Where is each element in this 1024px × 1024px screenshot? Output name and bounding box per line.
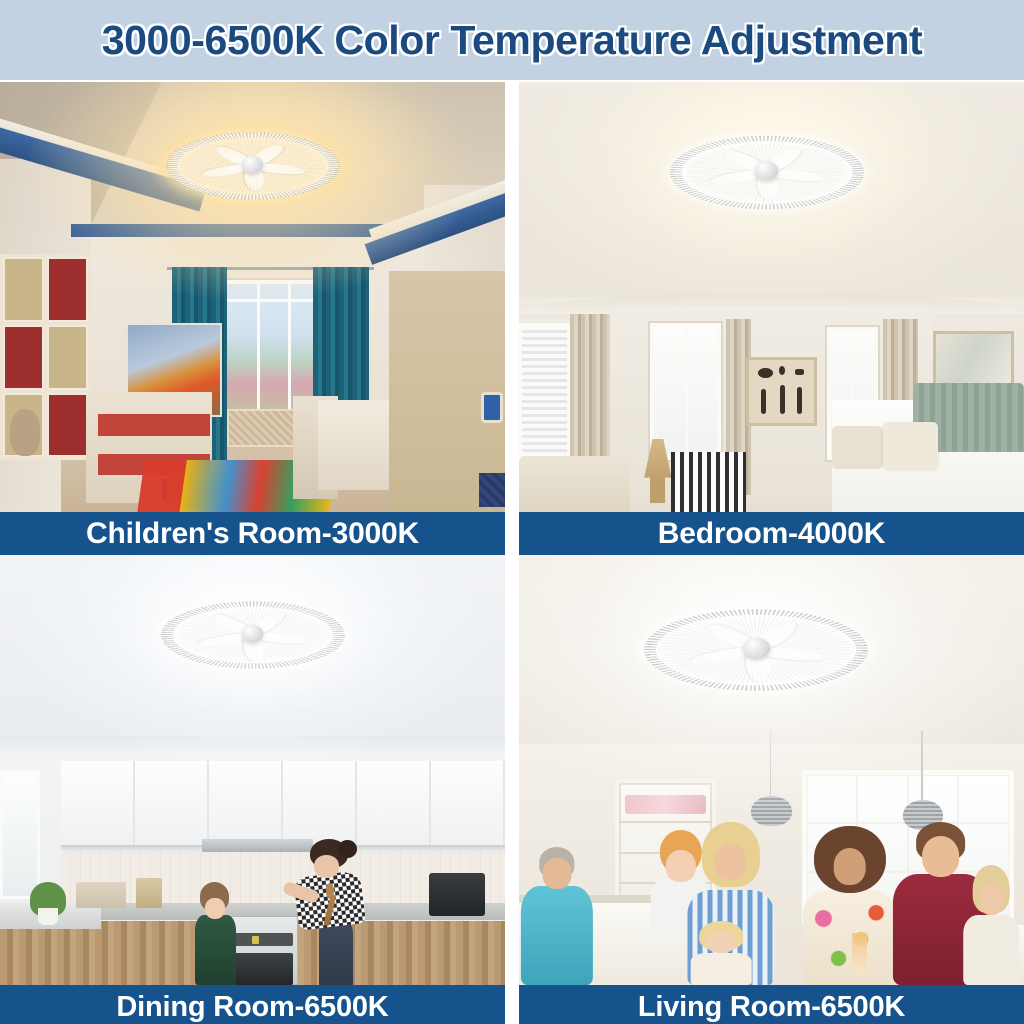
header-banner: 3000-6500K Color Temperature Adjustment bbox=[0, 0, 1024, 80]
panel-children-room[interactable] bbox=[0, 82, 505, 512]
person-shirt bbox=[521, 886, 593, 985]
panel-grid: Children's Room-3000K bbox=[0, 82, 1024, 1024]
person-face bbox=[980, 884, 1003, 915]
person-face bbox=[715, 844, 747, 880]
scene-bedroom bbox=[519, 82, 1024, 512]
panel-dining-room[interactable] bbox=[0, 555, 505, 985]
bed-headboard bbox=[481, 392, 503, 423]
pendant-cord bbox=[770, 731, 772, 800]
sofa bbox=[519, 456, 630, 512]
scene-living-room bbox=[519, 555, 1024, 985]
shelf-cube bbox=[3, 257, 44, 322]
shelf-cube bbox=[47, 257, 88, 322]
child-face bbox=[205, 898, 225, 919]
fan-hub bbox=[743, 638, 770, 659]
window bbox=[222, 280, 323, 413]
ceiling-fan-light[interactable] bbox=[167, 95, 339, 237]
shelf-cube bbox=[47, 393, 88, 458]
shelf-cube bbox=[47, 325, 88, 390]
dresser-drawer bbox=[98, 414, 209, 436]
upper-cabinets bbox=[61, 761, 505, 847]
ceiling-fan-light[interactable] bbox=[645, 564, 867, 736]
page-title: 3000-6500K Color Temperature Adjustment bbox=[102, 17, 923, 64]
panel-label-text: Children's Room-3000K bbox=[86, 517, 419, 551]
panel-label-text: Living Room-6500K bbox=[638, 991, 905, 1024]
panel-label-text: Dining Room-6500K bbox=[116, 991, 388, 1024]
cabinet-door bbox=[209, 761, 283, 847]
child-figure bbox=[192, 882, 243, 985]
range-display bbox=[252, 936, 259, 944]
lamp-base bbox=[650, 473, 665, 503]
bunk-bed bbox=[389, 271, 505, 512]
person-shirt bbox=[963, 915, 1019, 985]
panel-label-bedroom: Bedroom-4000K bbox=[519, 512, 1024, 555]
alcove-dishware bbox=[625, 795, 707, 814]
fan-hub bbox=[242, 156, 263, 173]
person-shirt bbox=[691, 953, 752, 985]
person-face bbox=[922, 836, 960, 877]
window-pane bbox=[857, 775, 908, 823]
cabinet-door bbox=[61, 761, 135, 847]
teddy-bear bbox=[10, 409, 40, 456]
panel-living-room[interactable] bbox=[519, 555, 1024, 985]
cabinet-door bbox=[357, 761, 431, 847]
child-dress bbox=[195, 915, 236, 985]
pillow bbox=[832, 426, 883, 469]
person-face bbox=[833, 848, 866, 885]
panel-label-text: Bedroom-4000K bbox=[658, 517, 885, 551]
adult-hair-bun bbox=[338, 840, 357, 858]
pendant-cord bbox=[921, 731, 923, 804]
panel-bedroom[interactable] bbox=[519, 82, 1024, 512]
shelf-cube bbox=[3, 325, 44, 390]
window-blinds bbox=[519, 323, 570, 461]
window-transom bbox=[226, 299, 319, 302]
plant-pot bbox=[38, 908, 58, 925]
cabinet-door bbox=[283, 761, 357, 847]
panel-label-living-room: Living Room-6500K bbox=[519, 985, 1024, 1024]
ceiling-fan-light[interactable] bbox=[671, 95, 863, 250]
adult-jeans bbox=[319, 921, 353, 985]
fan-hub bbox=[755, 161, 778, 180]
scene-dining-room bbox=[0, 555, 505, 985]
window-pane bbox=[958, 775, 1009, 823]
window-mullion bbox=[257, 284, 260, 409]
window-mullion bbox=[288, 284, 291, 409]
adult-face bbox=[314, 855, 340, 878]
person-face bbox=[542, 858, 571, 888]
person-figure bbox=[807, 826, 893, 985]
utensil-crock bbox=[136, 878, 161, 908]
ceiling-fan-light[interactable] bbox=[162, 564, 344, 706]
bed-mattress bbox=[479, 473, 505, 507]
adult-figure bbox=[288, 839, 374, 985]
striped-armchair bbox=[671, 452, 747, 512]
window bbox=[0, 770, 40, 899]
coffee-machine bbox=[429, 873, 485, 916]
cabinet-door bbox=[135, 761, 209, 847]
panel-label-children-room: Children's Room-3000K bbox=[0, 512, 505, 555]
storage-jars bbox=[76, 882, 127, 908]
line-art-artwork bbox=[746, 357, 817, 426]
window-pane bbox=[807, 775, 858, 823]
person-figure bbox=[691, 921, 752, 986]
panel-label-dining-room: Dining Room-6500K bbox=[0, 985, 505, 1024]
scene-children-room bbox=[0, 82, 505, 512]
cabinet-door bbox=[431, 761, 505, 847]
product-infographic: 3000-6500K Color Temperature Adjustment bbox=[0, 0, 1024, 1024]
person-figure bbox=[963, 865, 1019, 985]
person-figure bbox=[524, 847, 590, 985]
person-floral-top bbox=[803, 890, 897, 985]
fan-hub bbox=[242, 625, 264, 642]
person-face bbox=[706, 931, 735, 953]
pillow bbox=[883, 422, 939, 469]
